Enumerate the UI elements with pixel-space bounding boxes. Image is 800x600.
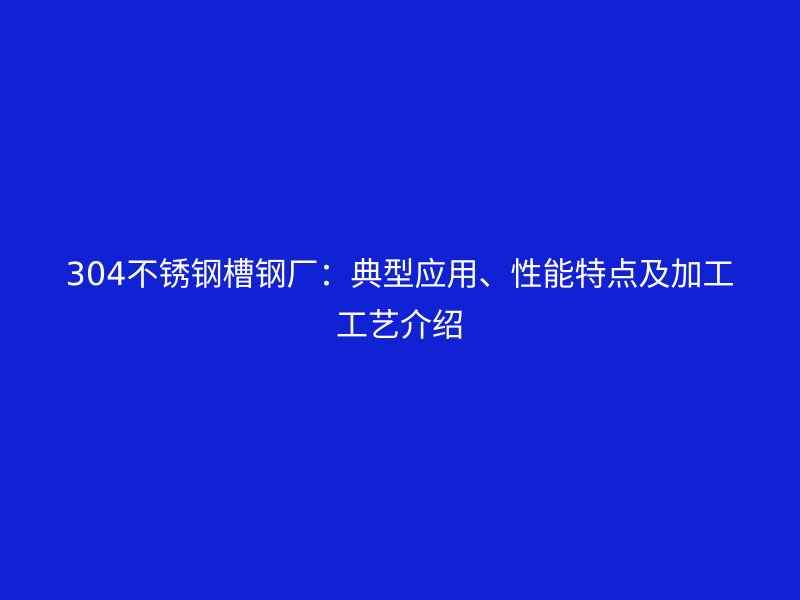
title-banner-slide: 304不锈钢槽钢厂：典型应用、性能特点及加工工艺介绍 [0, 0, 800, 600]
title-block: 304不锈钢槽钢厂：典型应用、性能特点及加工工艺介绍 [55, 249, 745, 351]
page-title: 304不锈钢槽钢厂：典型应用、性能特点及加工工艺介绍 [59, 249, 741, 351]
